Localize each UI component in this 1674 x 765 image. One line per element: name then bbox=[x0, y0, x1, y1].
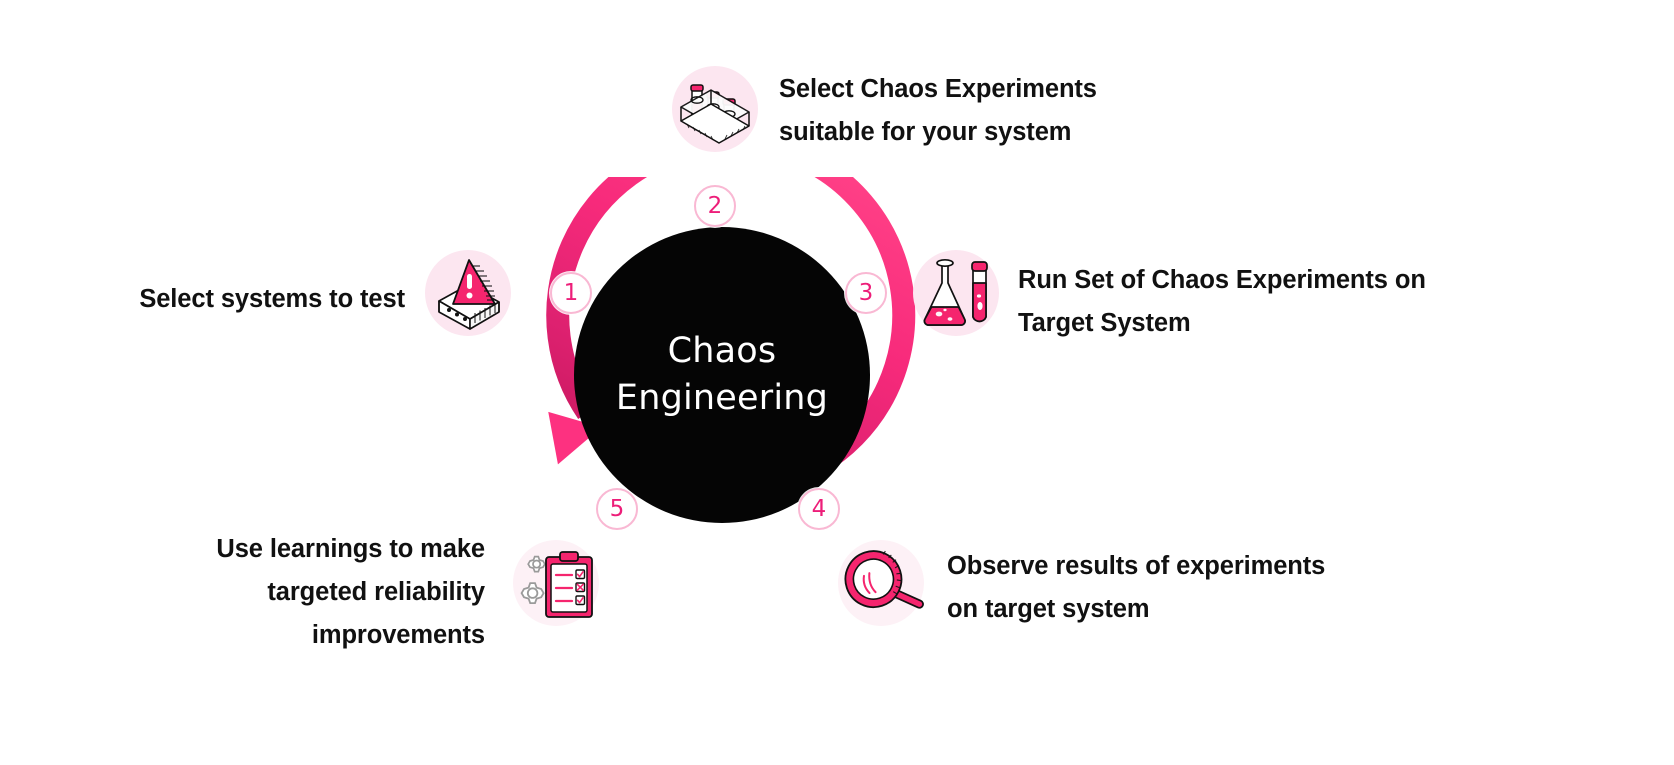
flask-test-tube-icon bbox=[913, 250, 999, 336]
step-badge-4[interactable]: 4 bbox=[798, 488, 840, 530]
step-label-4: Observe results of experiments on target… bbox=[947, 545, 1417, 631]
step-badge-1[interactable]: 1 bbox=[550, 272, 592, 314]
step-badge-3[interactable]: 3 bbox=[845, 272, 887, 314]
server-warning-icon bbox=[425, 250, 511, 336]
step-label-3: Run Set of Chaos Experiments on Target S… bbox=[1018, 259, 1538, 345]
clipboard-checklist-gears-icon bbox=[513, 540, 599, 626]
magnifying-glass-icon bbox=[838, 540, 924, 626]
cycle-hub: Chaos Engineering bbox=[524, 177, 920, 573]
step-badge-5[interactable]: 5 bbox=[596, 488, 638, 530]
center-label: Chaos Engineering bbox=[574, 328, 870, 421]
chaos-engineering-diagram: Chaos Engineering 1 2 3 4 5 Select syste… bbox=[0, 0, 1674, 765]
step-badge-2[interactable]: 2 bbox=[694, 185, 736, 227]
step-label-2: Select Chaos Experiments suitable for yo… bbox=[779, 68, 1199, 154]
test-tube-rack-icon bbox=[672, 66, 758, 152]
cycle-center-disc: Chaos Engineering bbox=[574, 227, 870, 523]
step-label-5: Use learnings to make targeted reliabili… bbox=[120, 528, 485, 656]
step-label-1: Select systems to test bbox=[60, 278, 405, 321]
